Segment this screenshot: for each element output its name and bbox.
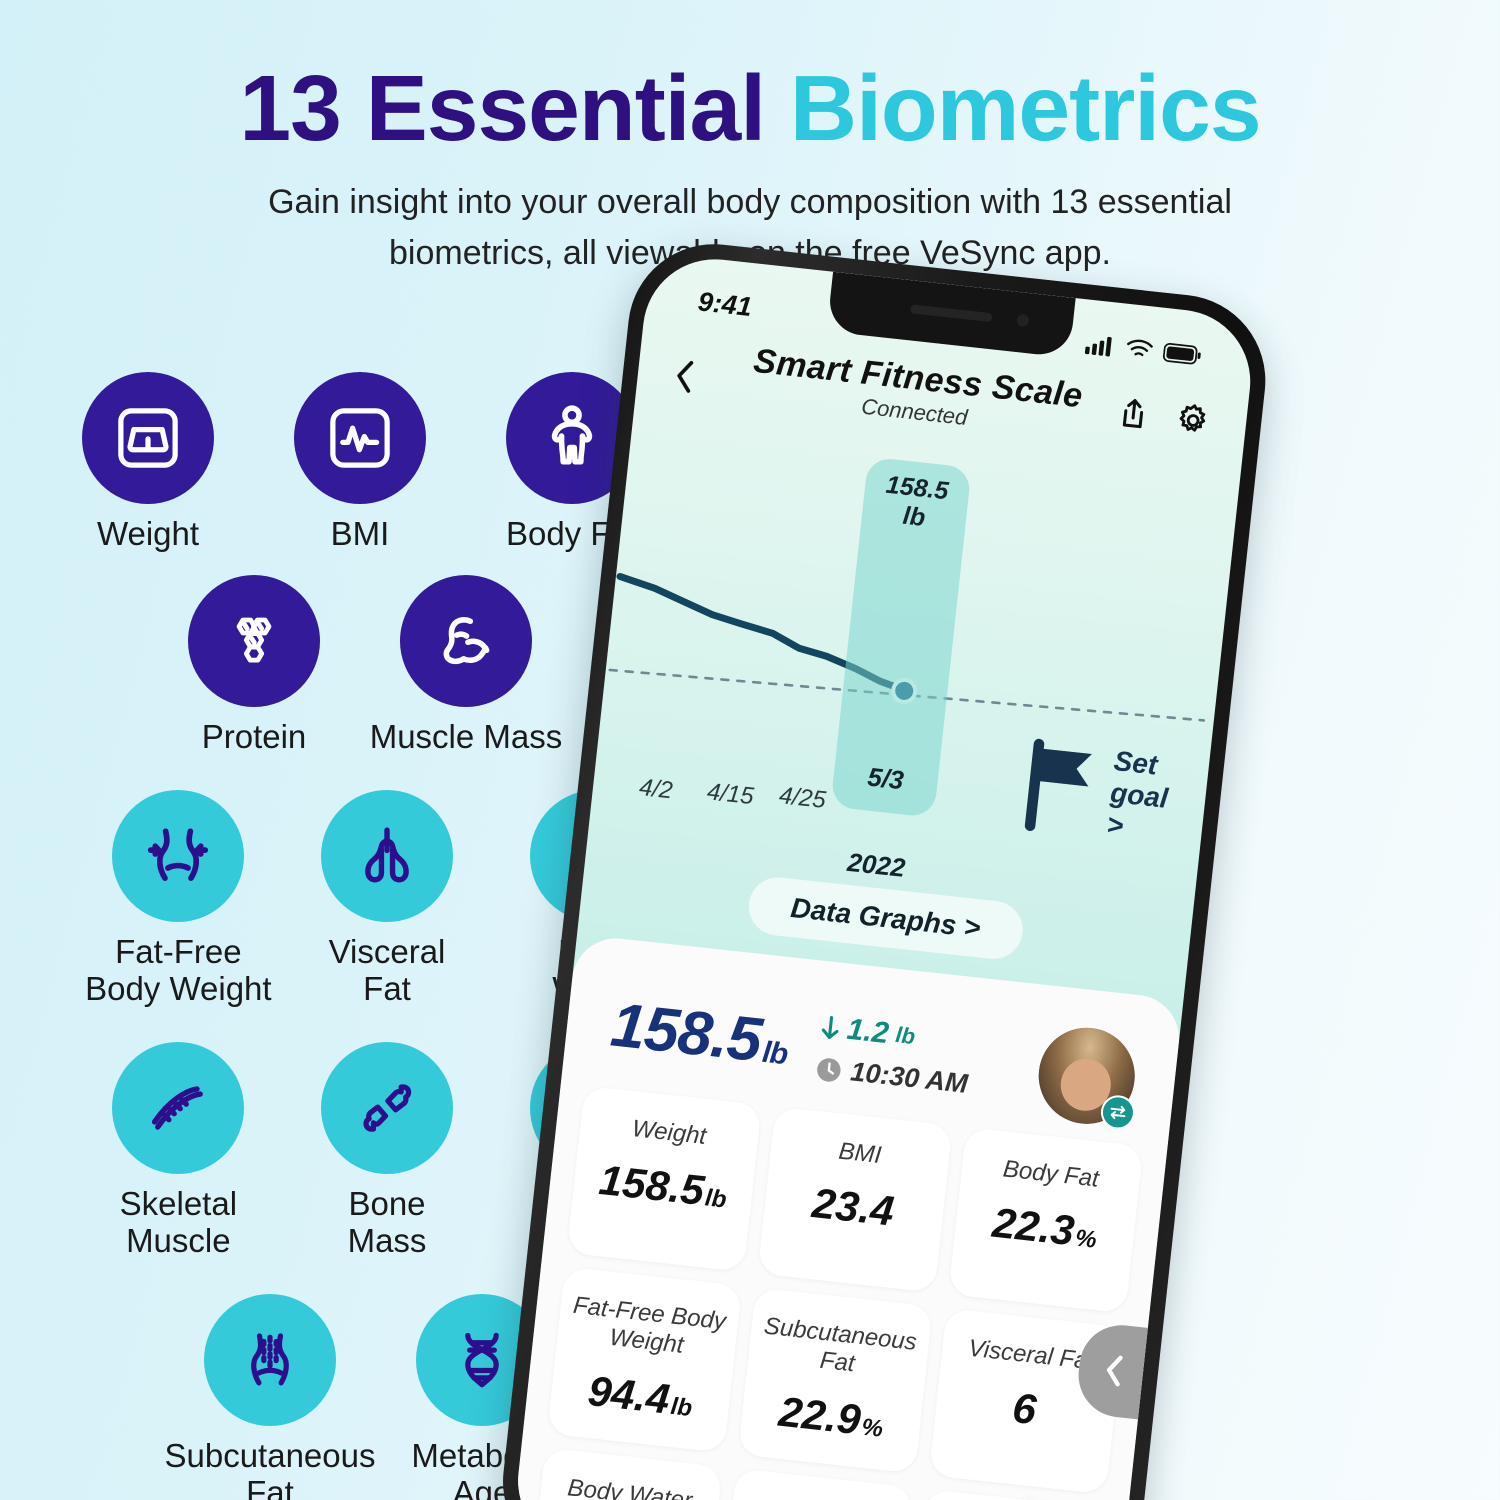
metric-value: 158.5lb [597, 1156, 730, 1218]
metric-tile[interactable]: Subcutaneous Fat22.9% [738, 1287, 933, 1473]
chevron-left-icon [1097, 1349, 1131, 1392]
icon-label: Protein [202, 719, 307, 756]
lungs-icon [321, 790, 453, 922]
summary-weight-value: 158.5 [608, 990, 765, 1075]
arrow-down-icon [819, 1014, 842, 1042]
app-header-actions [1113, 381, 1216, 441]
summary-weight: 158.5lb [608, 989, 792, 1079]
icon-label: Weight [97, 516, 199, 553]
icon-row-1: Weight BMI Body Fat [42, 372, 700, 553]
pulse-chart-icon [294, 372, 426, 504]
icon-item-weight[interactable]: Weight [42, 372, 254, 553]
metric-tile[interactable]: Fat-Free Body Weight94.4lb [547, 1267, 742, 1453]
page-title: 13 Essential Biometrics [0, 0, 1500, 155]
summary-time-value: 10:30 AM [849, 1056, 969, 1100]
icon-item-skeletal-muscle[interactable]: Skeletal Muscle [74, 1042, 283, 1260]
page-title-part1: 13 Essential [239, 56, 790, 160]
metric-label: Body Fat [1002, 1155, 1101, 1194]
flexed-bicep-icon [400, 575, 532, 707]
flag-icon [1012, 735, 1110, 839]
icon-label: Muscle Mass [370, 719, 563, 756]
metric-tile[interactable]: Weight158.5lb [567, 1086, 762, 1272]
avatar[interactable] [1034, 1023, 1140, 1129]
icon-label: Visceral Fat [329, 934, 446, 1008]
back-button[interactable] [669, 333, 722, 405]
wifi-icon [1124, 337, 1154, 362]
signal-bars-icon [1085, 333, 1117, 358]
chevron-left-icon [670, 355, 700, 398]
metric-tile[interactable]: BMI23.4 [757, 1106, 952, 1292]
metric-value: 94.4lb [586, 1367, 696, 1426]
status-time: 9:41 [696, 286, 753, 323]
icon-label: BMI [331, 516, 390, 553]
icon-label: Fat-Free Body Weight [85, 934, 272, 1008]
metric-tile[interactable]: Skeletal Muscle43.5% [718, 1468, 913, 1500]
metric-value: 23.4 [810, 1179, 898, 1236]
share-icon[interactable] [1113, 393, 1155, 435]
icon-item-fat-free-body-weight[interactable]: Fat-Free Body Weight [74, 790, 283, 1008]
bone-icon [321, 1042, 453, 1174]
x-tick-3: 4/25 [778, 782, 827, 815]
x-tick-2: 4/15 [706, 778, 755, 811]
clock-icon [814, 1055, 843, 1084]
metric-label: BMI [837, 1138, 882, 1171]
hexagon-molecule-icon [188, 575, 320, 707]
icon-item-protein[interactable]: Protein [148, 575, 360, 756]
set-goal-button[interactable]: Set goal > [1012, 735, 1186, 848]
waist-arrows-icon [112, 790, 244, 922]
gear-icon[interactable] [1172, 400, 1214, 442]
chart-tooltip-date: 5/3 [832, 758, 939, 800]
icon-label: Bone Mass [348, 1186, 427, 1260]
metrics-grid: Weight158.5lb BMI23.4 Body Fat22.3% Fat-… [511, 1083, 1168, 1500]
icon-item-subcutaneous-fat[interactable]: Subcutaneous Fat [164, 1294, 376, 1500]
icon-item-muscle-mass[interactable]: Muscle Mass [360, 575, 572, 756]
status-indicators [1085, 333, 1203, 367]
icon-item-bone-mass[interactable]: Bone Mass [283, 1042, 492, 1260]
metric-label: Visceral Fat [967, 1335, 1096, 1377]
metrics-sheet: 158.5lb 1.2lb 10:30 AM [511, 934, 1184, 1500]
metric-label: Fat-Free Body Weight [563, 1291, 732, 1365]
x-tick-1: 4/2 [638, 774, 674, 805]
muscle-fiber-icon [112, 1042, 244, 1174]
icon-item-visceral-fat[interactable]: Visceral Fat [283, 790, 492, 1008]
summary-weight-unit: lb [761, 1035, 789, 1070]
page-title-part2: Biometrics [790, 56, 1261, 160]
metric-label: Skeletal Muscle [735, 1493, 904, 1500]
icon-label: Subcutaneous Fat [164, 1438, 375, 1500]
metric-label: Weight [631, 1115, 708, 1151]
metric-label: Body Water [566, 1474, 693, 1500]
summary-delta-value: 1.2 [845, 1013, 890, 1051]
summary-details: 1.2lb 10:30 AM [814, 1010, 1043, 1108]
scale-icon [82, 372, 214, 504]
torso-pinch-icon [204, 1294, 336, 1426]
set-goal-label: Set goal > [1105, 745, 1186, 848]
chart-tooltip-value: 158.5lb [861, 469, 971, 537]
page-subtitle-line1: Gain insight into your overall body comp… [0, 177, 1500, 228]
metric-tile[interactable]: Body Water51.5% [527, 1448, 722, 1500]
metric-value: 22.3% [990, 1199, 1100, 1258]
summary-delta-unit: lb [894, 1022, 916, 1050]
metric-tile[interactable]: Body Fat22.3% [948, 1127, 1143, 1313]
icon-label: Skeletal Muscle [120, 1186, 237, 1260]
metric-value: 6 [1010, 1384, 1040, 1434]
hero-section: 13 Essential Biometrics Gain insight int… [0, 0, 1500, 279]
icon-item-bmi[interactable]: BMI [254, 372, 466, 553]
battery-icon [1162, 342, 1202, 366]
metric-label: Subcutaneous Fat [754, 1312, 923, 1386]
metric-value: 22.9% [777, 1387, 887, 1446]
weight-chart[interactable]: 158.5lb 5/3 4/2 4/15 4/25 2022 Set goal … [587, 419, 1240, 912]
